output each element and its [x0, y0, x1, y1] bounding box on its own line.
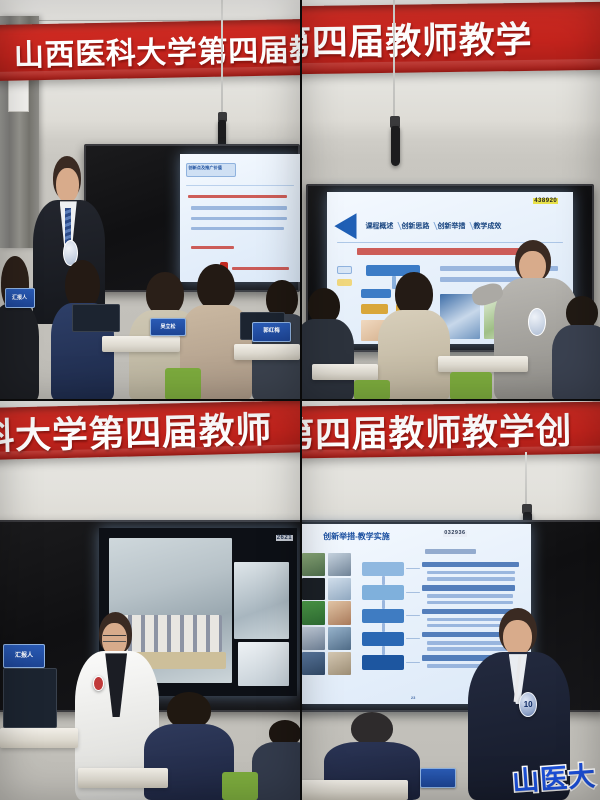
banner-text: 第四届教师教学创	[300, 402, 572, 458]
presenter-face	[503, 620, 533, 656]
slide-photo	[328, 578, 351, 600]
slide-connector	[406, 662, 420, 663]
slide-photo	[302, 627, 325, 650]
placard-label: 吴立松	[160, 325, 175, 330]
audience-desk	[234, 344, 300, 360]
slide-code-overlay: 2621	[276, 535, 293, 541]
placard-label: 郭红梅	[263, 329, 280, 335]
slide-left-chip	[337, 266, 352, 274]
slide-photo	[328, 652, 351, 675]
slide-flow-step-1	[362, 585, 404, 599]
slide-photo	[328, 627, 351, 650]
audience-member	[252, 720, 300, 800]
slide-code-overlay: 032936	[443, 531, 466, 537]
audience-desk	[312, 364, 378, 380]
watermark-logo: 山医大	[511, 754, 598, 799]
audience-chair	[354, 380, 390, 400]
audience-member	[0, 256, 39, 400]
mic-cable	[525, 452, 527, 508]
slide-flow-arrow	[382, 623, 385, 632]
audience-hair	[197, 264, 234, 310]
panel-bottom-left: 科大学第四届教师 2621 汇报人	[0, 400, 300, 800]
slide-note-line	[427, 571, 515, 575]
slide-flow-arrow	[382, 646, 385, 655]
placard-presenter: 汇报人	[3, 644, 45, 668]
ceiling	[0, 0, 300, 20]
slide-connector	[406, 568, 420, 569]
audience-body	[552, 325, 600, 400]
hanging-microphone	[391, 126, 400, 166]
slide-bullet-3	[191, 227, 285, 230]
slide-photo	[328, 601, 351, 624]
slide-flow-step-0	[362, 562, 404, 576]
slide-flow-step-4	[362, 655, 404, 669]
slide-back-chevron	[334, 213, 356, 239]
audience-body	[144, 724, 234, 800]
event-banner: 第四届教师教学	[300, 2, 600, 75]
slide-tab-3[interactable]: 教学成效	[469, 221, 505, 231]
banner-text: 第四届教师教学	[300, 11, 532, 67]
mic-cable	[393, 0, 395, 120]
audience-hair	[146, 272, 183, 316]
slide-connector	[406, 615, 420, 616]
audience-desk	[300, 780, 408, 800]
slide-note-line	[427, 601, 512, 605]
slide-photo	[302, 553, 325, 576]
contestant-number: 10	[524, 701, 533, 709]
slide-flow-step-2	[362, 609, 404, 623]
slide-lead-line	[188, 195, 286, 198]
slide-connector	[406, 638, 420, 639]
mic-cable	[221, 0, 223, 116]
presenter-face	[56, 168, 79, 203]
event-banner: 第四届教师教学创	[300, 401, 600, 458]
slide-rule	[186, 185, 294, 186]
slide-note-line	[427, 577, 515, 581]
presenter-badge-logo	[528, 308, 546, 336]
slide-code-overlay: 438920	[533, 198, 558, 204]
audience-chair	[222, 772, 258, 800]
audience-chair	[165, 368, 201, 400]
slide-photo	[302, 578, 325, 600]
slide-photo-bedside	[234, 562, 289, 639]
projected-slide-1: 创新点及推广价值	[180, 154, 300, 282]
panel-bottom-right: 第四届教师教学创 创新举措-教学实施 032936	[300, 400, 600, 800]
slide-photo	[302, 652, 325, 675]
slide-flow-arrow	[382, 600, 385, 609]
event-banner: 山西医科大学第四届教学	[0, 19, 300, 81]
slide-bullet-2	[191, 217, 287, 220]
presenter-glasses	[103, 635, 127, 643]
audience-body	[252, 742, 300, 800]
placard-presenter: 汇报人	[5, 288, 35, 308]
audience-body	[300, 319, 354, 400]
slide-page-number: 23	[411, 695, 415, 700]
placard-label: 汇报人	[15, 653, 33, 659]
slide-action-line	[422, 562, 519, 567]
audience-desk	[102, 336, 180, 352]
collage-seam-horizontal	[0, 399, 600, 401]
event-banner: 科大学第四届教师	[0, 400, 300, 460]
slide-photo	[328, 553, 351, 576]
placard-judge: 郭红梅	[252, 322, 291, 342]
slide-left-chip	[337, 279, 352, 287]
banner-text: 山西医科大学第四届教学	[14, 24, 300, 74]
slide-case-label	[425, 549, 476, 554]
slide-flow-step-3	[362, 632, 404, 646]
desk-monitor	[3, 668, 57, 728]
audience-desk	[438, 356, 528, 372]
slide-photo-detail	[238, 642, 289, 686]
photo-collage: 山西医科大学第四届教学 创新点及推广价值	[0, 0, 600, 800]
slide-title: 创新点及推广价值	[188, 165, 222, 171]
panel-top-right: 第四届教师教学 课程概述 创新思路 创新举措 教学成效 438920	[300, 0, 600, 400]
audience-hair	[351, 712, 393, 745]
slide-note-line	[427, 594, 512, 598]
audience-desk	[78, 768, 168, 788]
placard-label: 汇报人	[12, 296, 27, 301]
presenter-desk	[0, 728, 78, 748]
audience-hair	[395, 272, 432, 316]
slide-title: 创新举措-教学实施	[323, 531, 390, 542]
slide-footer-label	[191, 246, 234, 249]
audience-member	[552, 296, 600, 400]
slide-bullet-1	[191, 206, 287, 209]
audience-body	[0, 304, 39, 400]
slide-flow-arrow	[382, 576, 385, 585]
slide-action-line	[422, 585, 514, 590]
slide-photo	[302, 601, 325, 624]
panel-top-left: 山西医科大学第四届教学 创新点及推广价值	[0, 0, 300, 400]
placard-label	[437, 776, 438, 781]
audience-member	[300, 288, 354, 400]
placard-judge: 吴立松	[150, 318, 186, 336]
slide-tab-strip: 课程概述 创新思路 创新举措 教学成效	[361, 213, 505, 239]
slide-connector	[406, 592, 420, 593]
audience-chair	[450, 372, 492, 400]
audience-hair	[167, 692, 210, 729]
banner-text: 科大学第四届教师	[0, 401, 273, 460]
desk-monitor	[72, 304, 120, 332]
placard-desk	[420, 768, 456, 788]
